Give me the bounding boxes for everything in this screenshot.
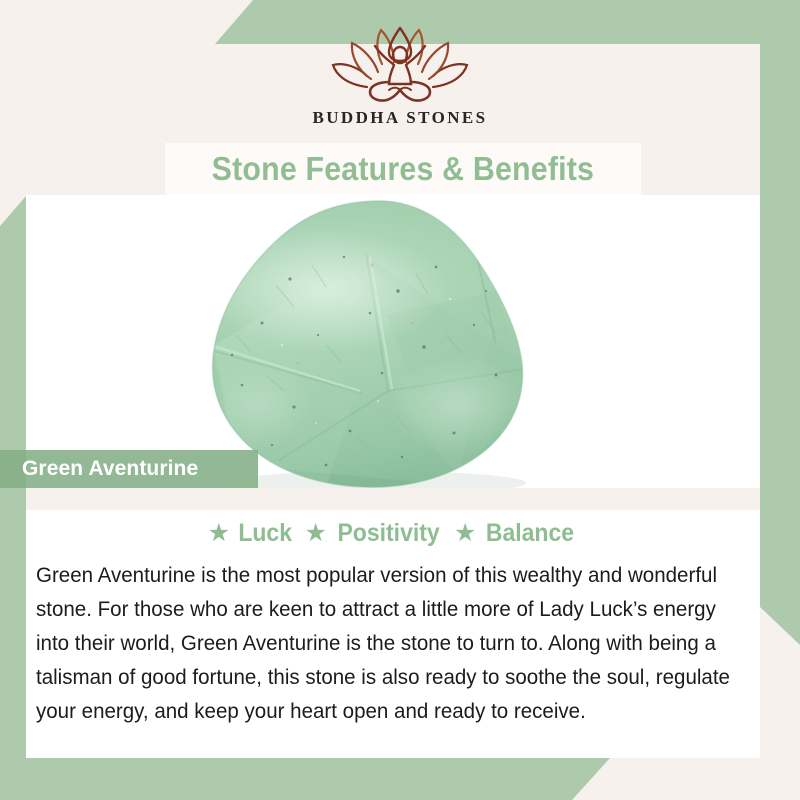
star-icon: ★ (454, 521, 476, 546)
green-aventurine-stone-image (26, 195, 760, 488)
brand-name: BUDDHA STONES (313, 108, 488, 128)
star-icon: ★ (304, 521, 326, 546)
stone-description: Green Aventurine is the most popular ver… (36, 558, 743, 728)
feature-item-luck: ★ Luck (208, 519, 295, 548)
feature-label-luck: Luck (238, 519, 292, 548)
feature-label-balance: Balance (486, 519, 574, 548)
page-title: Stone Features & Benefits (212, 150, 595, 188)
product-photo (26, 195, 760, 488)
feature-item-balance: ★ Balance (454, 519, 578, 548)
panel-top-strip (26, 488, 760, 510)
star-icon: ★ (208, 521, 230, 546)
brand-header: BUDDHA STONES (0, 0, 800, 143)
feature-keyword-list: ★ Luck ★ Positivity ★ Balance (26, 519, 760, 548)
stone-name-text: Green Aventurine (0, 457, 198, 481)
frame-accent-left (0, 196, 26, 800)
feature-item-positivity: ★ Positivity (304, 519, 444, 548)
stone-info-card: BUDDHA STONES Stone Features & Benefits (0, 0, 800, 800)
feature-label-positivity: Positivity (337, 519, 439, 548)
section-title-banner: Stone Features & Benefits (165, 143, 641, 195)
stone-name-label: Green Aventurine (0, 450, 258, 488)
frame-accent-bottom (0, 758, 610, 800)
lotus-meditation-icon (325, 24, 475, 104)
